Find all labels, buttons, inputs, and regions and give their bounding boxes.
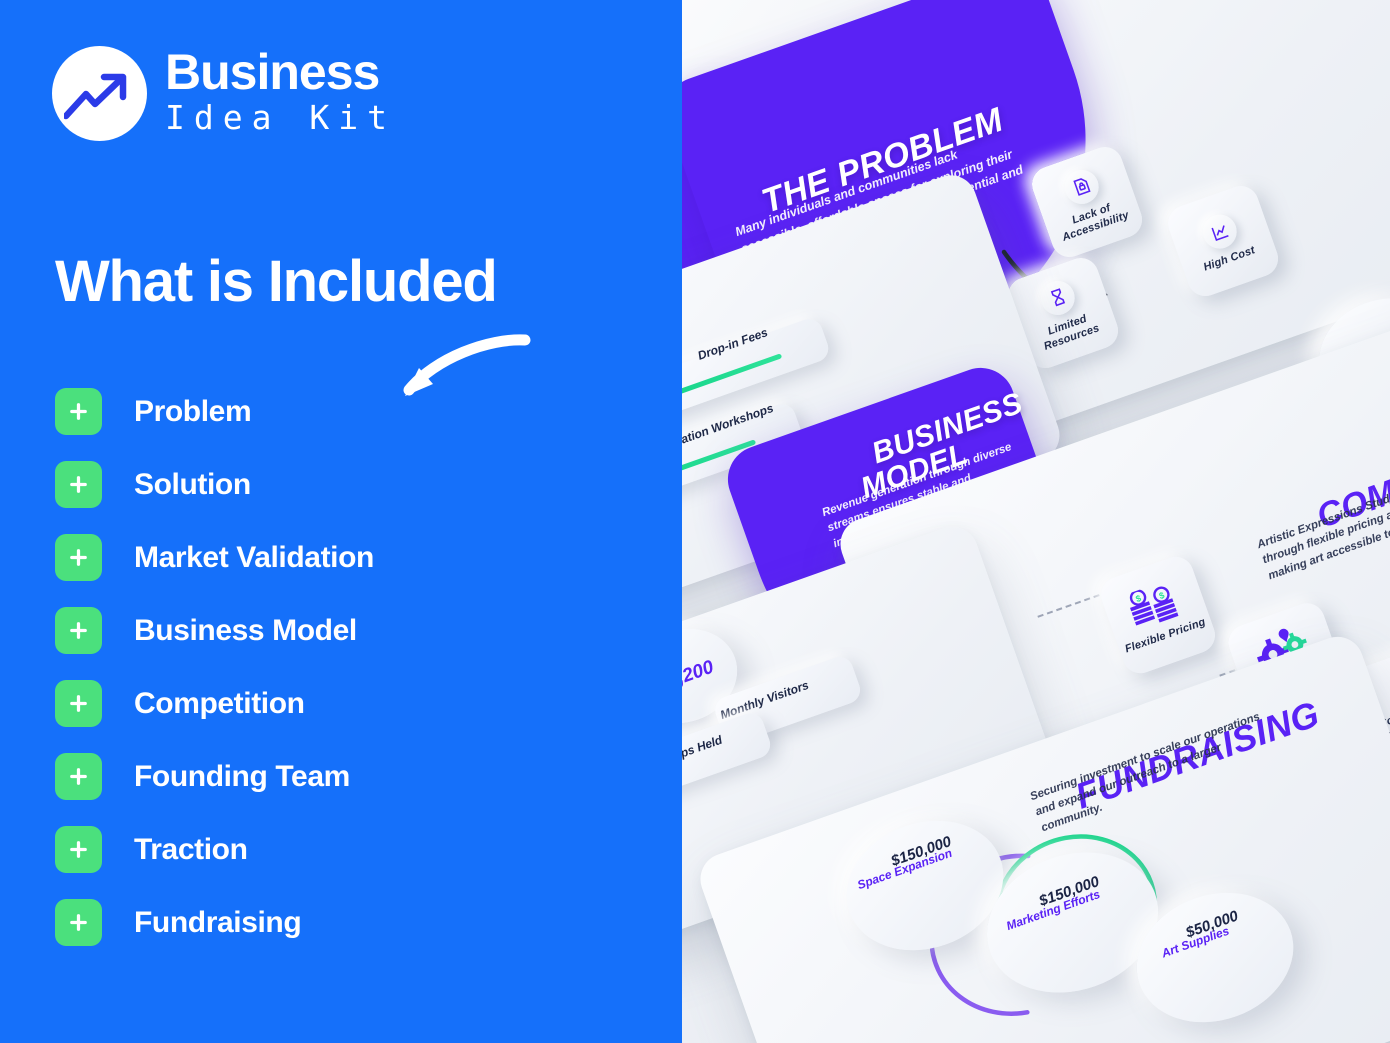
growth-chart-arrow-icon bbox=[64, 64, 136, 124]
locked-document-icon bbox=[1060, 165, 1103, 208]
list-item-solution[interactable]: Solution bbox=[55, 461, 374, 508]
included-items-list: Problem Solution Market Validation Busin… bbox=[55, 388, 374, 946]
list-item-label: Solution bbox=[134, 468, 251, 502]
svg-text:$: $ bbox=[1135, 593, 1143, 604]
plus-icon bbox=[55, 680, 102, 727]
brand-line-1: Business bbox=[165, 48, 396, 97]
left-info-panel: Business Idea Kit What is Included Probl… bbox=[0, 0, 682, 1043]
brand-wordmark: Business Idea Kit bbox=[165, 48, 396, 138]
list-item-label: Traction bbox=[134, 833, 248, 867]
slide-preview-page: THE PROBLEM Many individuals and communi… bbox=[0, 0, 1390, 1043]
list-item-problem[interactable]: Problem bbox=[55, 388, 374, 435]
list-item-label: Business Model bbox=[134, 614, 357, 648]
hourglass-icon bbox=[1036, 276, 1079, 319]
plus-icon bbox=[55, 461, 102, 508]
brand-logo[interactable]: Business Idea Kit bbox=[52, 46, 396, 141]
brand-line-2: Idea Kit bbox=[165, 97, 396, 138]
list-item-competition[interactable]: Competition bbox=[55, 680, 374, 727]
curved-arrow-down-left-icon bbox=[385, 322, 535, 412]
list-item-market-validation[interactable]: Market Validation bbox=[55, 534, 374, 581]
logo-circle bbox=[52, 46, 147, 141]
list-item-fundraising[interactable]: Fundraising bbox=[55, 899, 374, 946]
svg-text:$: $ bbox=[1158, 590, 1166, 601]
problem-tile-label-1: High Cost bbox=[1202, 245, 1257, 275]
list-item-label: Fundraising bbox=[134, 906, 301, 940]
list-item-traction[interactable]: Traction bbox=[55, 826, 374, 873]
plus-icon bbox=[55, 607, 102, 654]
list-item-label: Competition bbox=[134, 687, 305, 721]
plus-icon bbox=[55, 534, 102, 581]
list-item-label: Market Validation bbox=[134, 541, 374, 575]
page-title: What is Included bbox=[55, 248, 497, 315]
list-item-founding-team[interactable]: Founding Team bbox=[55, 753, 374, 800]
rising-chart-icon bbox=[1198, 210, 1241, 253]
plus-icon bbox=[55, 899, 102, 946]
plus-icon bbox=[55, 753, 102, 800]
list-item-label: Problem bbox=[134, 395, 251, 429]
plus-icon bbox=[55, 826, 102, 873]
list-item-business-model[interactable]: Business Model bbox=[55, 607, 374, 654]
list-item-label: Founding Team bbox=[134, 760, 350, 794]
plus-icon bbox=[55, 388, 102, 435]
